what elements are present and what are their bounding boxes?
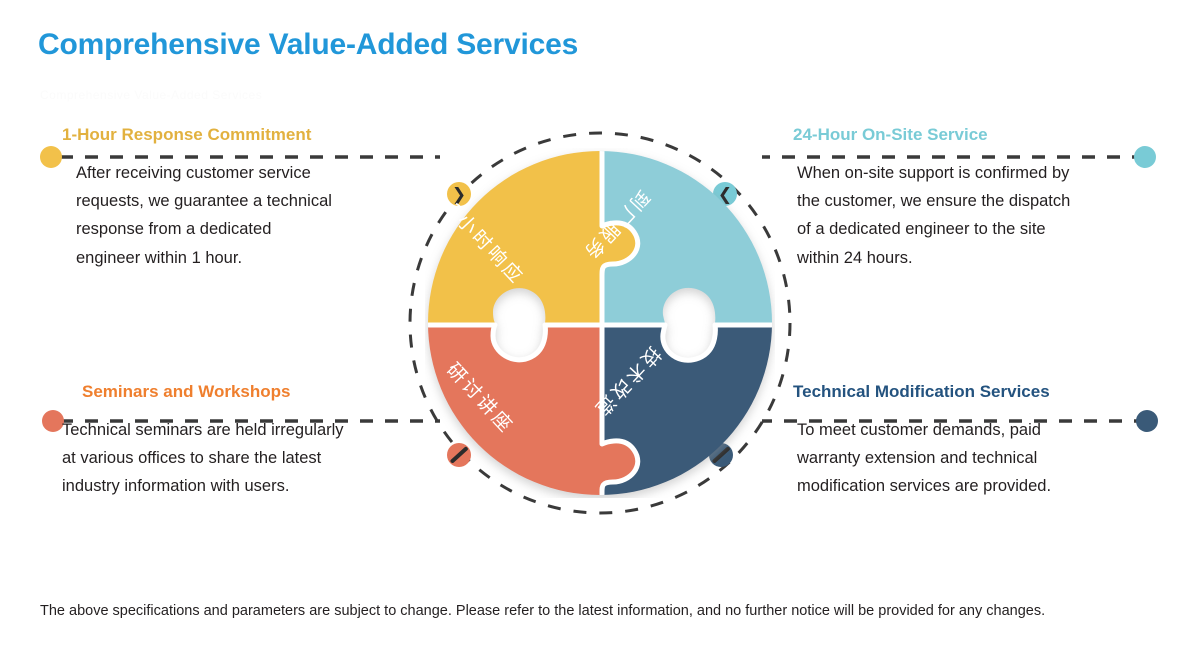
service-block-top-right: 24-Hour On-Site Service When on-site sup… — [793, 126, 1193, 272]
service-line: To meet customer demands, paid — [797, 416, 1193, 444]
service-block-bottom-left: Seminars and Workshops Technical seminar… — [52, 383, 452, 501]
service-line: response from a dedicated — [76, 215, 462, 243]
page-title: Comprehensive Value-Added Services — [38, 28, 578, 62]
service-description: After receiving customer service request… — [62, 159, 462, 273]
service-description: When on-site support is confirmed by the… — [793, 159, 1193, 273]
service-description: To meet customer demands, paid warranty … — [793, 416, 1193, 501]
page-subtitle: Comprehensive Value-Added Services — [40, 88, 262, 102]
service-line: After receiving customer service — [76, 159, 462, 187]
service-line: modification services are provided. — [797, 472, 1193, 500]
service-line: within 24 hours. — [797, 244, 1193, 272]
service-line: at various offices to share the latest — [62, 444, 452, 472]
service-line: industry information with users. — [62, 472, 452, 500]
service-block-top-left: 1-Hour Response Commitment After receivi… — [62, 126, 462, 272]
puzzle-diagram: 1小时响应 到厂服务 研讨讲座 技术改造 — [425, 148, 775, 498]
service-heading: 24-Hour On-Site Service — [793, 126, 1193, 145]
service-line: engineer within 1 hour. — [76, 244, 462, 272]
service-line: Technical seminars are held irregularly — [62, 416, 452, 444]
service-block-bottom-right: Technical Modification Services To meet … — [793, 383, 1193, 501]
service-line: requests, we guarantee a technical — [76, 187, 462, 215]
service-line: warranty extension and technical — [797, 444, 1193, 472]
service-line: the customer, we ensure the dispatch — [797, 187, 1193, 215]
service-description: Technical seminars are held irregularly … — [52, 416, 452, 501]
slide-canvas: Comprehensive Value-Added Services Compr… — [0, 0, 1200, 648]
service-heading: Technical Modification Services — [793, 383, 1193, 402]
service-heading: 1-Hour Response Commitment — [62, 126, 462, 145]
footer-disclaimer: The above specifications and parameters … — [40, 603, 1045, 619]
endpoint-dot-top-left — [40, 146, 62, 168]
service-line: of a dedicated engineer to the site — [797, 215, 1193, 243]
service-heading: Seminars and Workshops — [52, 383, 452, 402]
service-line: When on-site support is confirmed by — [797, 159, 1193, 187]
